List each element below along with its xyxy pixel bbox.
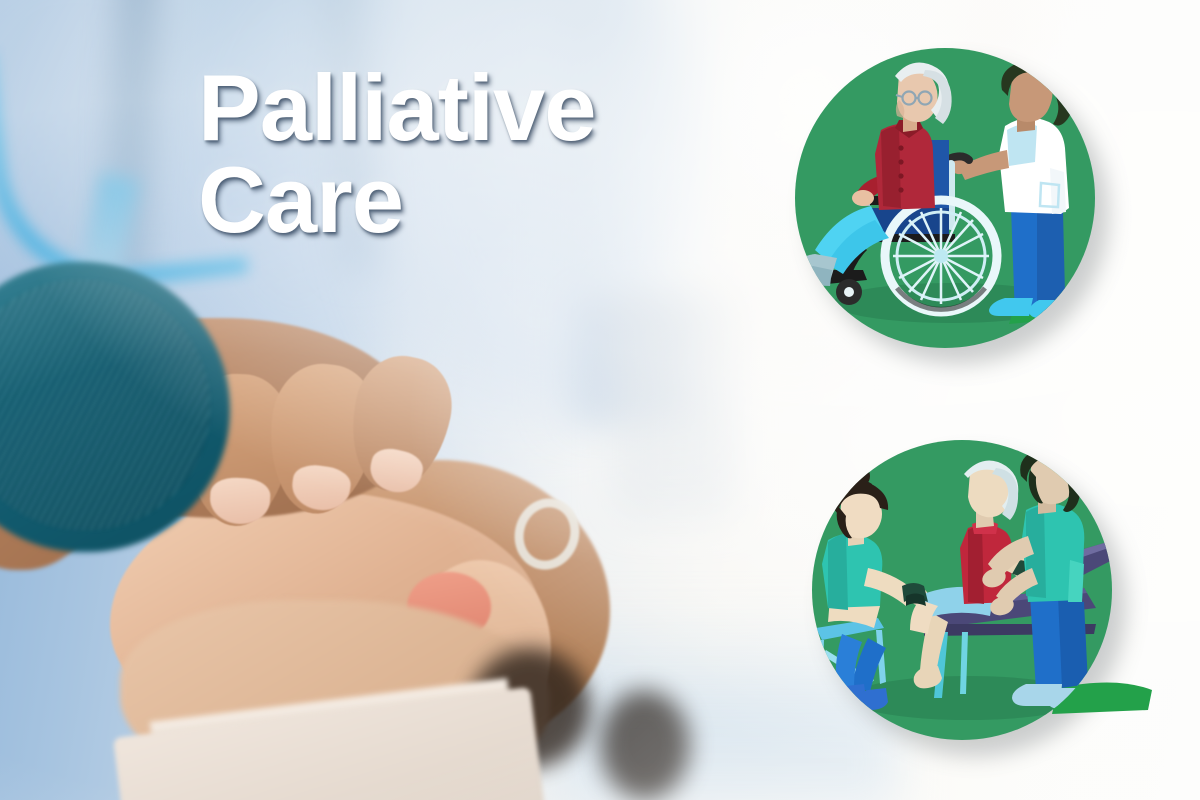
wheelchair-illustration-art	[755, 8, 1135, 388]
title-line-2: Care	[198, 154, 718, 246]
physiotherapy-illustration-art	[772, 400, 1152, 780]
banner-stage: Palliative Care	[0, 0, 1200, 800]
page-title: Palliative Care	[198, 62, 718, 246]
wheelchair-assistance-illustration	[795, 48, 1095, 348]
physiotherapy-svg	[772, 400, 1152, 780]
physiotherapy-illustration	[812, 440, 1112, 740]
wheelchair-svg	[755, 8, 1135, 388]
title-line-1: Palliative	[198, 55, 596, 160]
